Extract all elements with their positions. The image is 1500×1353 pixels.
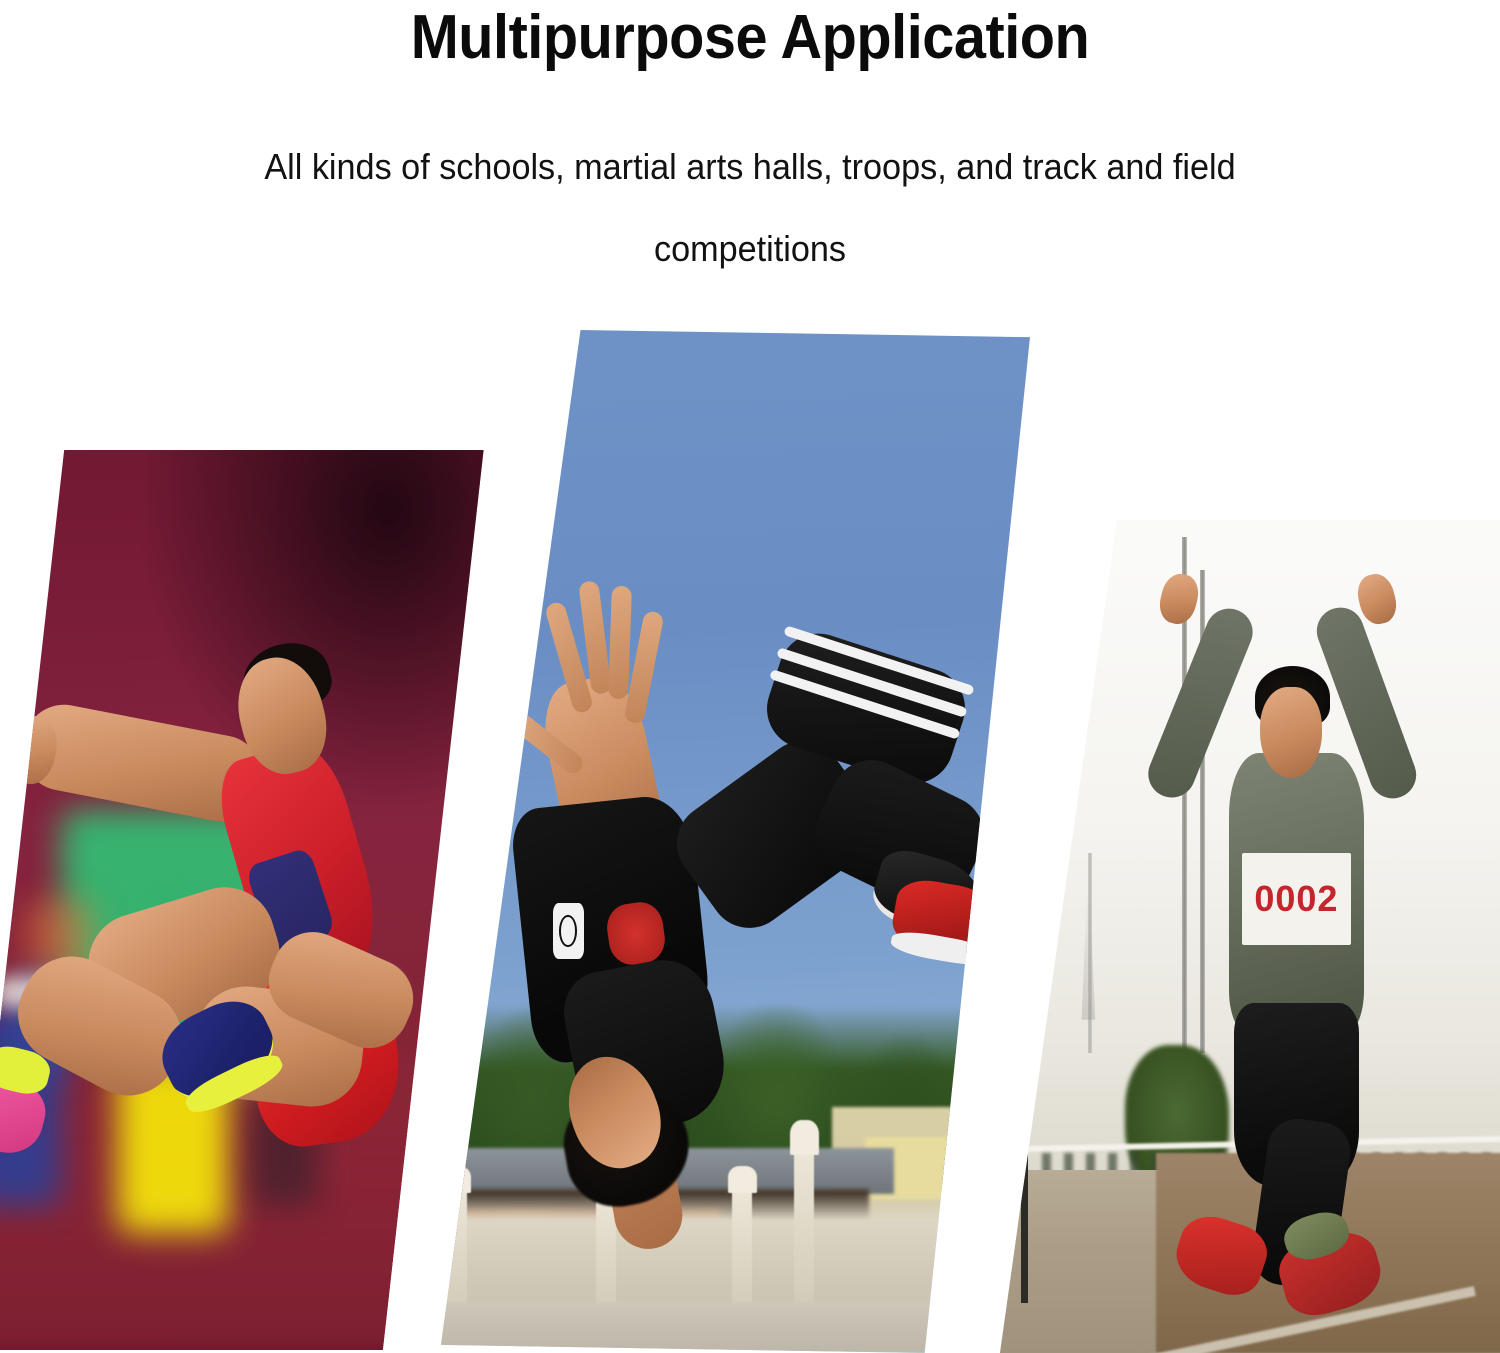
page-title: Multipurpose Application (53, 2, 1448, 74)
athlete-bib-number: 0002 (1242, 853, 1351, 945)
shorts-logo-icon (553, 903, 584, 959)
light-pole (1021, 1120, 1028, 1303)
long-jump-photo (0, 450, 520, 1350)
athlete-legs (683, 596, 993, 1046)
athlete-head (1260, 687, 1322, 779)
athlete-shoe-red (889, 875, 1005, 960)
athlete-shoe-pink (0, 1072, 52, 1161)
page-subtitle: All kinds of schools, martial arts halls… (38, 74, 1463, 290)
long-jump-athlete (0, 450, 520, 1350)
subtitle-line-2: competitions (38, 208, 1463, 290)
photo-collage: 0002 (0, 330, 1500, 1353)
bib-number-text: 0002 (1254, 878, 1338, 920)
ground-strip (410, 1302, 1030, 1353)
header: Multipurpose Application All kinds of sc… (0, 0, 1500, 290)
celebration-jump-photo: 0002 (1000, 520, 1500, 1353)
backflip-photo (410, 330, 1030, 1353)
subtitle-line-1: All kinds of schools, martial arts halls… (38, 126, 1463, 208)
